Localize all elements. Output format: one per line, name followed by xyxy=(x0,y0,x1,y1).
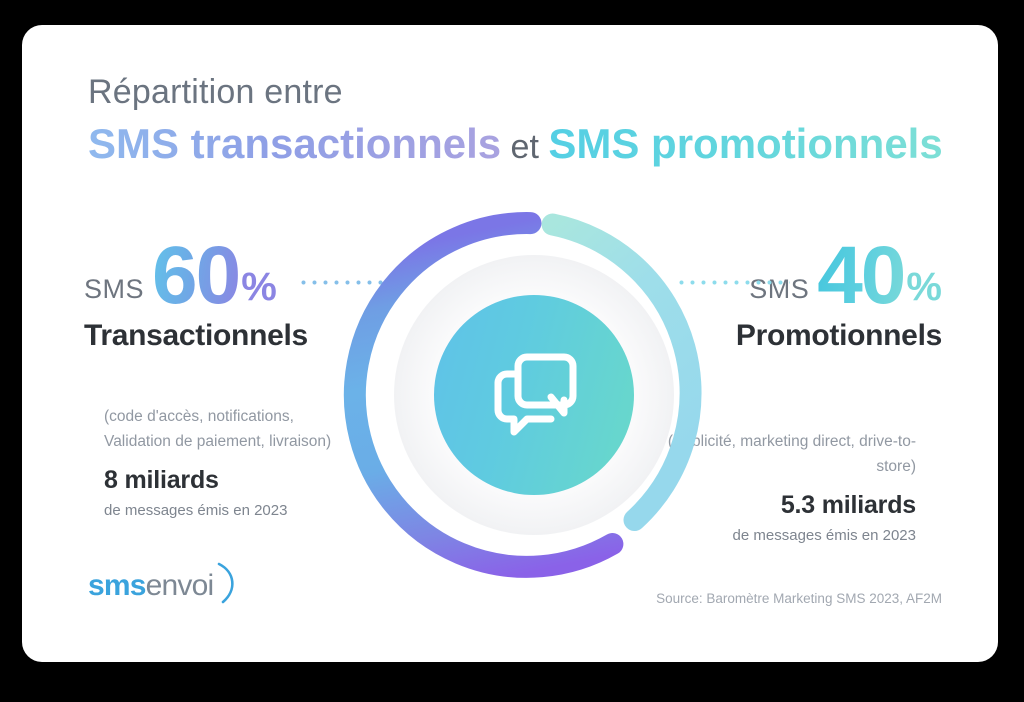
logo-text-sms: sms xyxy=(88,569,146,603)
chat-bubbles-icon xyxy=(481,347,587,443)
left-percent-sign: % xyxy=(241,267,277,317)
right-percent-sign: % xyxy=(906,267,942,317)
title-line-1: Répartition entre xyxy=(88,73,943,112)
title-conjunction: et xyxy=(501,128,548,166)
title-segment-transactional: SMS transactionnels xyxy=(88,120,501,167)
right-stat-heading: SMS 40 % Promotionnels xyxy=(736,235,942,353)
donut-chart xyxy=(339,200,729,590)
donut-center xyxy=(434,295,634,495)
title-segment-promotional: SMS promotionnels xyxy=(548,120,942,167)
left-percent-value: 60 xyxy=(152,235,239,317)
right-percent-value: 40 xyxy=(817,235,904,317)
logo-swoosh-icon xyxy=(215,560,241,606)
left-volume-caption: de messages émis en 2023 xyxy=(104,502,364,519)
left-volume-value: 8 miliards xyxy=(104,466,364,495)
title-line-2: SMS transactionnels et SMS promotionnels xyxy=(88,118,943,171)
left-category-label: Transactionnels xyxy=(84,319,308,353)
brand-logo[interactable]: smsenvoi xyxy=(88,566,241,606)
logo-text-envoi: envoi xyxy=(146,569,214,603)
infographic-card: Répartition entre SMS transactionnels et… xyxy=(22,25,998,662)
source-note: Source: Baromètre Marketing SMS 2023, AF… xyxy=(656,591,942,606)
left-detail-note: (code d'accès, notifications, Validation… xyxy=(104,404,364,454)
left-sms-label: SMS xyxy=(84,276,144,317)
left-stat-heading: SMS 60 % Transactionnels xyxy=(84,235,308,353)
page-title: Répartition entre SMS transactionnels et… xyxy=(88,73,943,171)
right-category-label: Promotionnels xyxy=(736,319,942,353)
left-detail-block: (code d'accès, notifications, Validation… xyxy=(104,404,364,519)
